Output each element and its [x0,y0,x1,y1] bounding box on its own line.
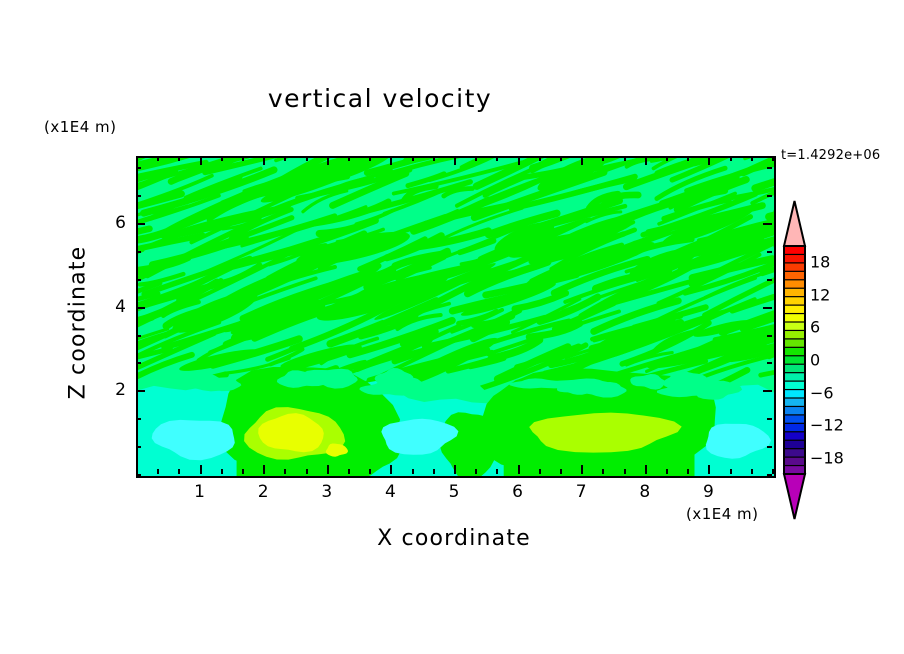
colorbar-band-21 [784,423,805,432]
x-tick-top [560,156,562,161]
x-tick-top [666,156,668,161]
y-axis-title: Z coordinate [66,213,91,433]
x-tick-bottom [518,465,520,474]
colorbar-band-6 [784,297,805,306]
z-axis-unit-label: (x1E4 m) [44,118,117,136]
x-tick-top [730,156,732,161]
colorbar-band-16 [784,381,805,390]
y-tick-label: 2 [94,380,126,400]
y-tick-left [136,251,141,253]
x-tick-label: 7 [576,482,587,502]
x-axis-title: X coordinate [136,526,772,551]
colorbar-band-11 [784,339,805,348]
colorbar-band-17 [784,390,805,399]
x-tick-top [390,156,392,165]
x-tick-top [221,156,223,161]
colorbar-tick-label: −12 [810,416,844,435]
colorbar-band-20 [784,415,805,424]
colorbar-over-cap [784,201,805,246]
x-tick-label: 2 [258,482,269,502]
x-tick-bottom [772,469,774,474]
y-tick-left [136,446,141,448]
x-tick-bottom [581,465,583,474]
x-tick-top [242,156,244,161]
y-tick-left [136,335,141,337]
y-tick-left [136,390,145,392]
y-tick-right [767,167,772,169]
x-tick-top [687,156,689,161]
x-tick-bottom [751,469,753,474]
convective-cell-layer [138,367,774,476]
colorbar-band-22 [784,432,805,441]
x-tick-label: 1 [194,482,205,502]
colorbar: 181260−6−12−18 [780,200,810,520]
colorbar-band-12 [784,347,805,356]
x-tick-top [157,156,159,161]
x-tick-top [624,156,626,161]
y-tick-right [767,474,772,476]
colorbar-under-cap [784,474,805,519]
colorbar-tick-label: 0 [810,351,820,370]
y-tick-right [767,418,772,420]
colorbar-band-8 [784,314,805,323]
x-tick-bottom [242,469,244,474]
x-tick-bottom [284,469,286,474]
x-tick-top [369,156,371,161]
x-tick-bottom [412,469,414,474]
colorbar-gradient [780,200,810,520]
colorbar-band-3 [784,271,805,280]
x-tick-bottom [157,469,159,474]
colorbar-tick-label: 6 [810,318,820,337]
x-tick-top [306,156,308,161]
x-tick-bottom [221,469,223,474]
y-tick-right [767,362,772,364]
y-tick-left [136,195,141,197]
colorbar-band-25 [784,457,805,466]
x-tick-top [433,156,435,161]
x-tick-bottom [369,469,371,474]
x-tick-bottom [730,469,732,474]
y-tick-left [136,474,141,476]
x-tick-label: 3 [321,482,332,502]
y-tick-right [767,446,772,448]
x-axis-unit-label: (x1E4 m) [686,505,759,523]
x-tick-bottom [263,465,265,474]
x-tick-top [539,156,541,161]
y-tick-label: 6 [94,213,126,233]
x-tick-top [454,156,456,165]
x-tick-bottom [178,469,180,474]
colorbar-band-15 [784,373,805,382]
x-tick-bottom [433,469,435,474]
colorbar-tick-label: −18 [810,448,844,467]
colorbar-band-9 [784,322,805,331]
colorbar-band-7 [784,305,805,314]
y-tick-left [136,223,145,225]
x-tick-top [772,156,774,161]
timestamp-annotation: t=1.4292e+06 [781,148,880,163]
x-tick-bottom [560,469,562,474]
x-tick-bottom [327,465,329,474]
colorbar-band-14 [784,364,805,373]
x-tick-top [708,156,710,165]
x-tick-bottom [708,465,710,474]
colorbar-tick-label: 18 [810,253,830,272]
page-title: vertical velocity [0,84,760,113]
x-tick-bottom [645,465,647,474]
x-tick-top [200,156,202,165]
x-tick-bottom [348,469,350,474]
x-tick-top [263,156,265,165]
x-tick-top [178,156,180,161]
colorbar-band-2 [784,263,805,272]
y-tick-left [136,279,141,281]
x-tick-top [496,156,498,161]
x-tick-label: 9 [703,482,714,502]
x-tick-top [581,156,583,165]
y-tick-right [763,307,772,309]
y-tick-right [767,251,772,253]
x-tick-top [284,156,286,161]
x-tick-bottom [390,465,392,474]
x-tick-bottom [496,469,498,474]
x-tick-top [475,156,477,161]
contour-field [138,158,774,476]
x-tick-bottom [624,469,626,474]
x-tick-bottom [200,465,202,474]
x-tick-bottom [539,469,541,474]
x-tick-top [751,156,753,161]
colorbar-band-19 [784,406,805,415]
x-tick-label: 6 [512,482,523,502]
x-tick-top [518,156,520,165]
x-tick-top [327,156,329,165]
y-tick-left [136,167,141,169]
contour-plot-area [136,156,776,478]
y-tick-right [767,195,772,197]
x-tick-top [136,156,138,161]
y-tick-right [763,390,772,392]
x-tick-bottom [475,469,477,474]
colorbar-tick-label: −6 [810,383,834,402]
colorbar-band-24 [784,449,805,458]
colorbar-band-5 [784,288,805,297]
colorbar-band-23 [784,440,805,449]
x-tick-top [412,156,414,161]
x-tick-top [348,156,350,161]
x-tick-bottom [666,469,668,474]
x-tick-label: 5 [449,482,460,502]
colorbar-band-10 [784,330,805,339]
colorbar-tick-label: 12 [810,285,830,304]
x-tick-bottom [602,469,604,474]
y-tick-right [763,223,772,225]
y-tick-left [136,307,145,309]
y-tick-left [136,418,141,420]
y-tick-right [767,335,772,337]
y-tick-left [136,362,141,364]
colorbar-band-13 [784,356,805,365]
x-tick-label: 8 [639,482,650,502]
colorbar-band-4 [784,280,805,289]
x-tick-top [645,156,647,165]
x-tick-bottom [454,465,456,474]
x-tick-bottom [306,469,308,474]
y-tick-label: 4 [94,297,126,317]
x-tick-bottom [687,469,689,474]
x-tick-label: 4 [385,482,396,502]
y-tick-right [767,279,772,281]
colorbar-band-1 [784,254,805,263]
colorbar-band-0 [784,246,805,255]
colorbar-band-18 [784,398,805,407]
x-tick-top [602,156,604,161]
